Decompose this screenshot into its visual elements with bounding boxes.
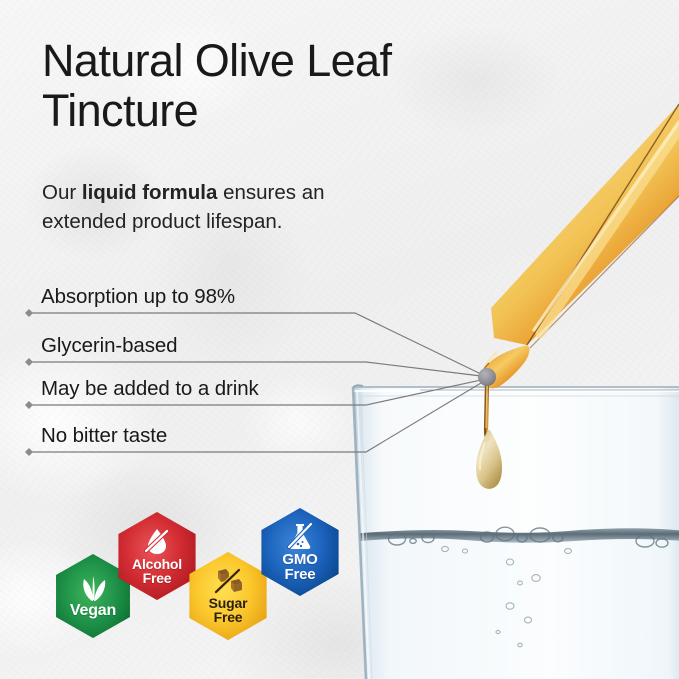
badge-vegan-line1: Vegan — [70, 603, 116, 619]
badge-gmo-line1: GMO — [282, 552, 317, 567]
flask-slash-icon — [285, 522, 315, 550]
feature-label-glycerin: Glycerin-based — [41, 334, 177, 358]
badge-gmo-text: GMO Free — [282, 552, 317, 582]
badge-sugar-line2: Free — [209, 610, 248, 624]
droplet-slash-icon — [142, 527, 172, 555]
callout-end-markers — [25, 309, 33, 456]
badge-alcohol-text: Alcohol Free — [132, 557, 182, 585]
callout-hub-dot — [478, 368, 496, 386]
page-subtitle: Our liquid formula ensures an extended p… — [42, 178, 402, 236]
subtitle-prefix: Our — [42, 181, 82, 204]
badge-gmo-free: GMO Free — [255, 507, 345, 597]
feature-label-drink: May be added to a drink — [41, 377, 259, 401]
badge-sugar-line1: Sugar — [209, 596, 248, 610]
page-title: Natural Olive Leaf Tincture — [42, 36, 512, 137]
badge-alcohol-line2: Free — [132, 571, 182, 585]
sugar-cubes-slash-icon — [212, 568, 244, 594]
feature-label-taste: No bitter taste — [41, 424, 167, 448]
badge-alcohol-line1: Alcohol — [132, 557, 182, 571]
subtitle-bold: liquid formula — [82, 181, 218, 204]
badge-sugar-text: Sugar Free — [209, 596, 248, 624]
glass-of-water — [350, 385, 679, 679]
badge-vegan-text: Vegan — [70, 603, 116, 619]
badge-gmo-line2: Free — [282, 567, 317, 582]
product-infographic: Natural Olive Leaf Tincture Our liquid f… — [0, 0, 679, 679]
feature-label-absorption: Absorption up to 98% — [41, 285, 235, 309]
leaf-icon — [76, 574, 110, 602]
